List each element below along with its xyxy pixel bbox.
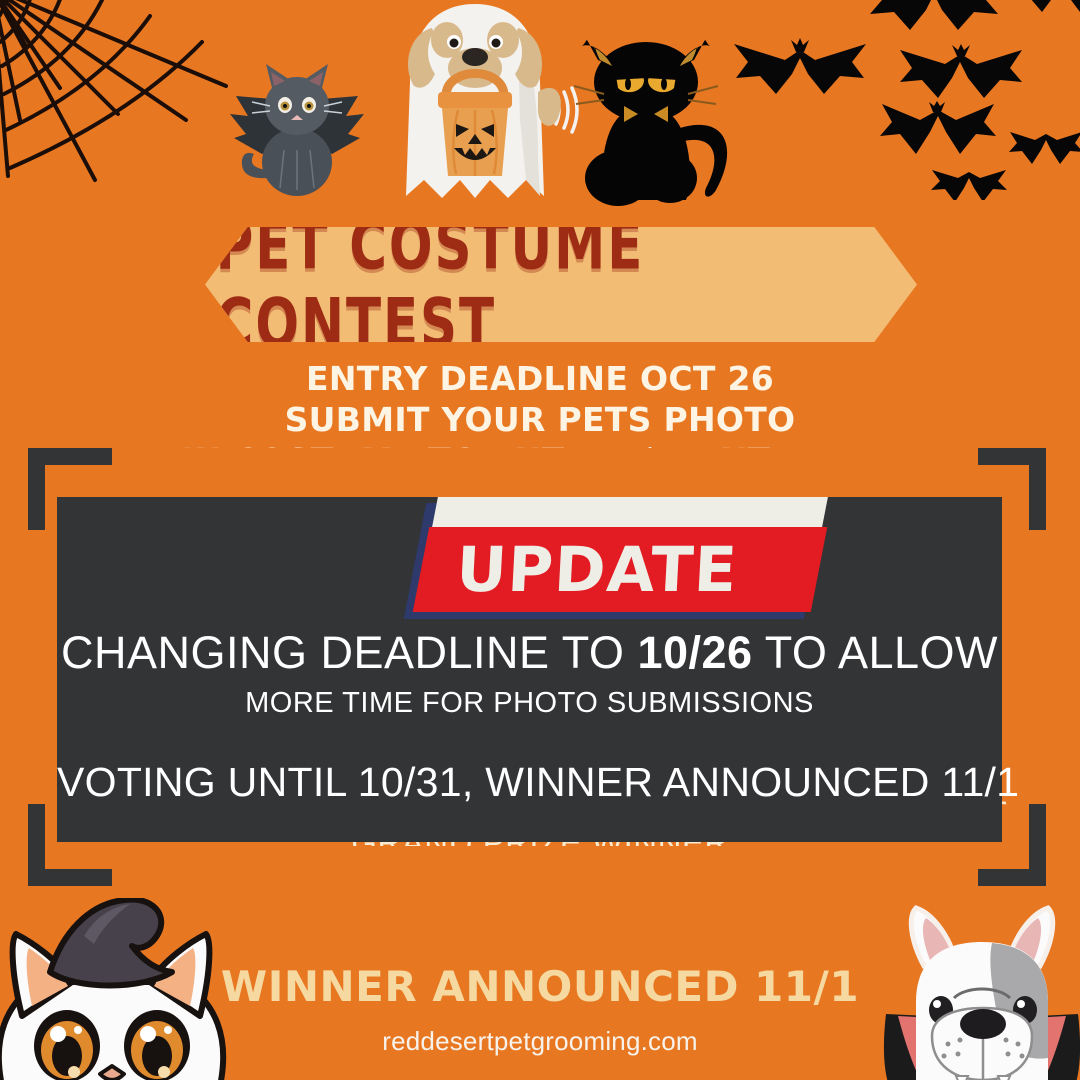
website-url: reddesertpetgrooming.com <box>0 1026 1080 1057</box>
title-banner: PET COSTUME CONTEST <box>205 227 917 342</box>
entry-detail-line-2: SUBMIT YOUR PETS PHOTO <box>0 399 1080 440</box>
entry-detail-line-1: ENTRY DEADLINE OCT 26 <box>0 358 1080 399</box>
update-voting-line: VOTING UNTIL 10/31, WINNER ANNOUNCED 11/… <box>57 759 1002 806</box>
page-title: PET COSTUME CONTEST <box>216 206 907 362</box>
update-headline: CHANGING DEADLINE TO 10/26 TO ALLOW <box>57 627 1002 679</box>
update-overlay-panel: UPDATE CHANGING DEADLINE TO 10/26 TO ALL… <box>57 497 1002 842</box>
update-headline-prefix: CHANGING DEADLINE TO <box>61 627 637 678</box>
frame-notch-top <box>112 448 978 488</box>
bat-flock-illustration <box>730 0 1080 200</box>
update-label: UPDATE <box>365 527 829 612</box>
ghost-costume-dog-illustration <box>370 0 580 205</box>
update-headline-suffix: TO ALLOW <box>753 627 998 678</box>
frame-notch-bottom <box>112 846 978 886</box>
ribbon-cream-stripe <box>432 497 828 527</box>
spider-web-icon <box>0 0 240 205</box>
winner-announcement: WINNER ANNOUNCED 11/1 <box>0 962 1080 1011</box>
bat-winged-cat-illustration <box>222 58 372 200</box>
black-cat-silhouette-illustration <box>560 18 750 208</box>
update-ribbon: UPDATE <box>367 497 827 622</box>
update-new-deadline: 10/26 <box>637 627 752 678</box>
halloween-pet-costume-contest-poster: PET COSTUME CONTEST ENTRY DEADLINE OCT 2… <box>0 0 1080 1080</box>
update-subline: MORE TIME FOR PHOTO SUBMISSIONS <box>57 687 1002 720</box>
